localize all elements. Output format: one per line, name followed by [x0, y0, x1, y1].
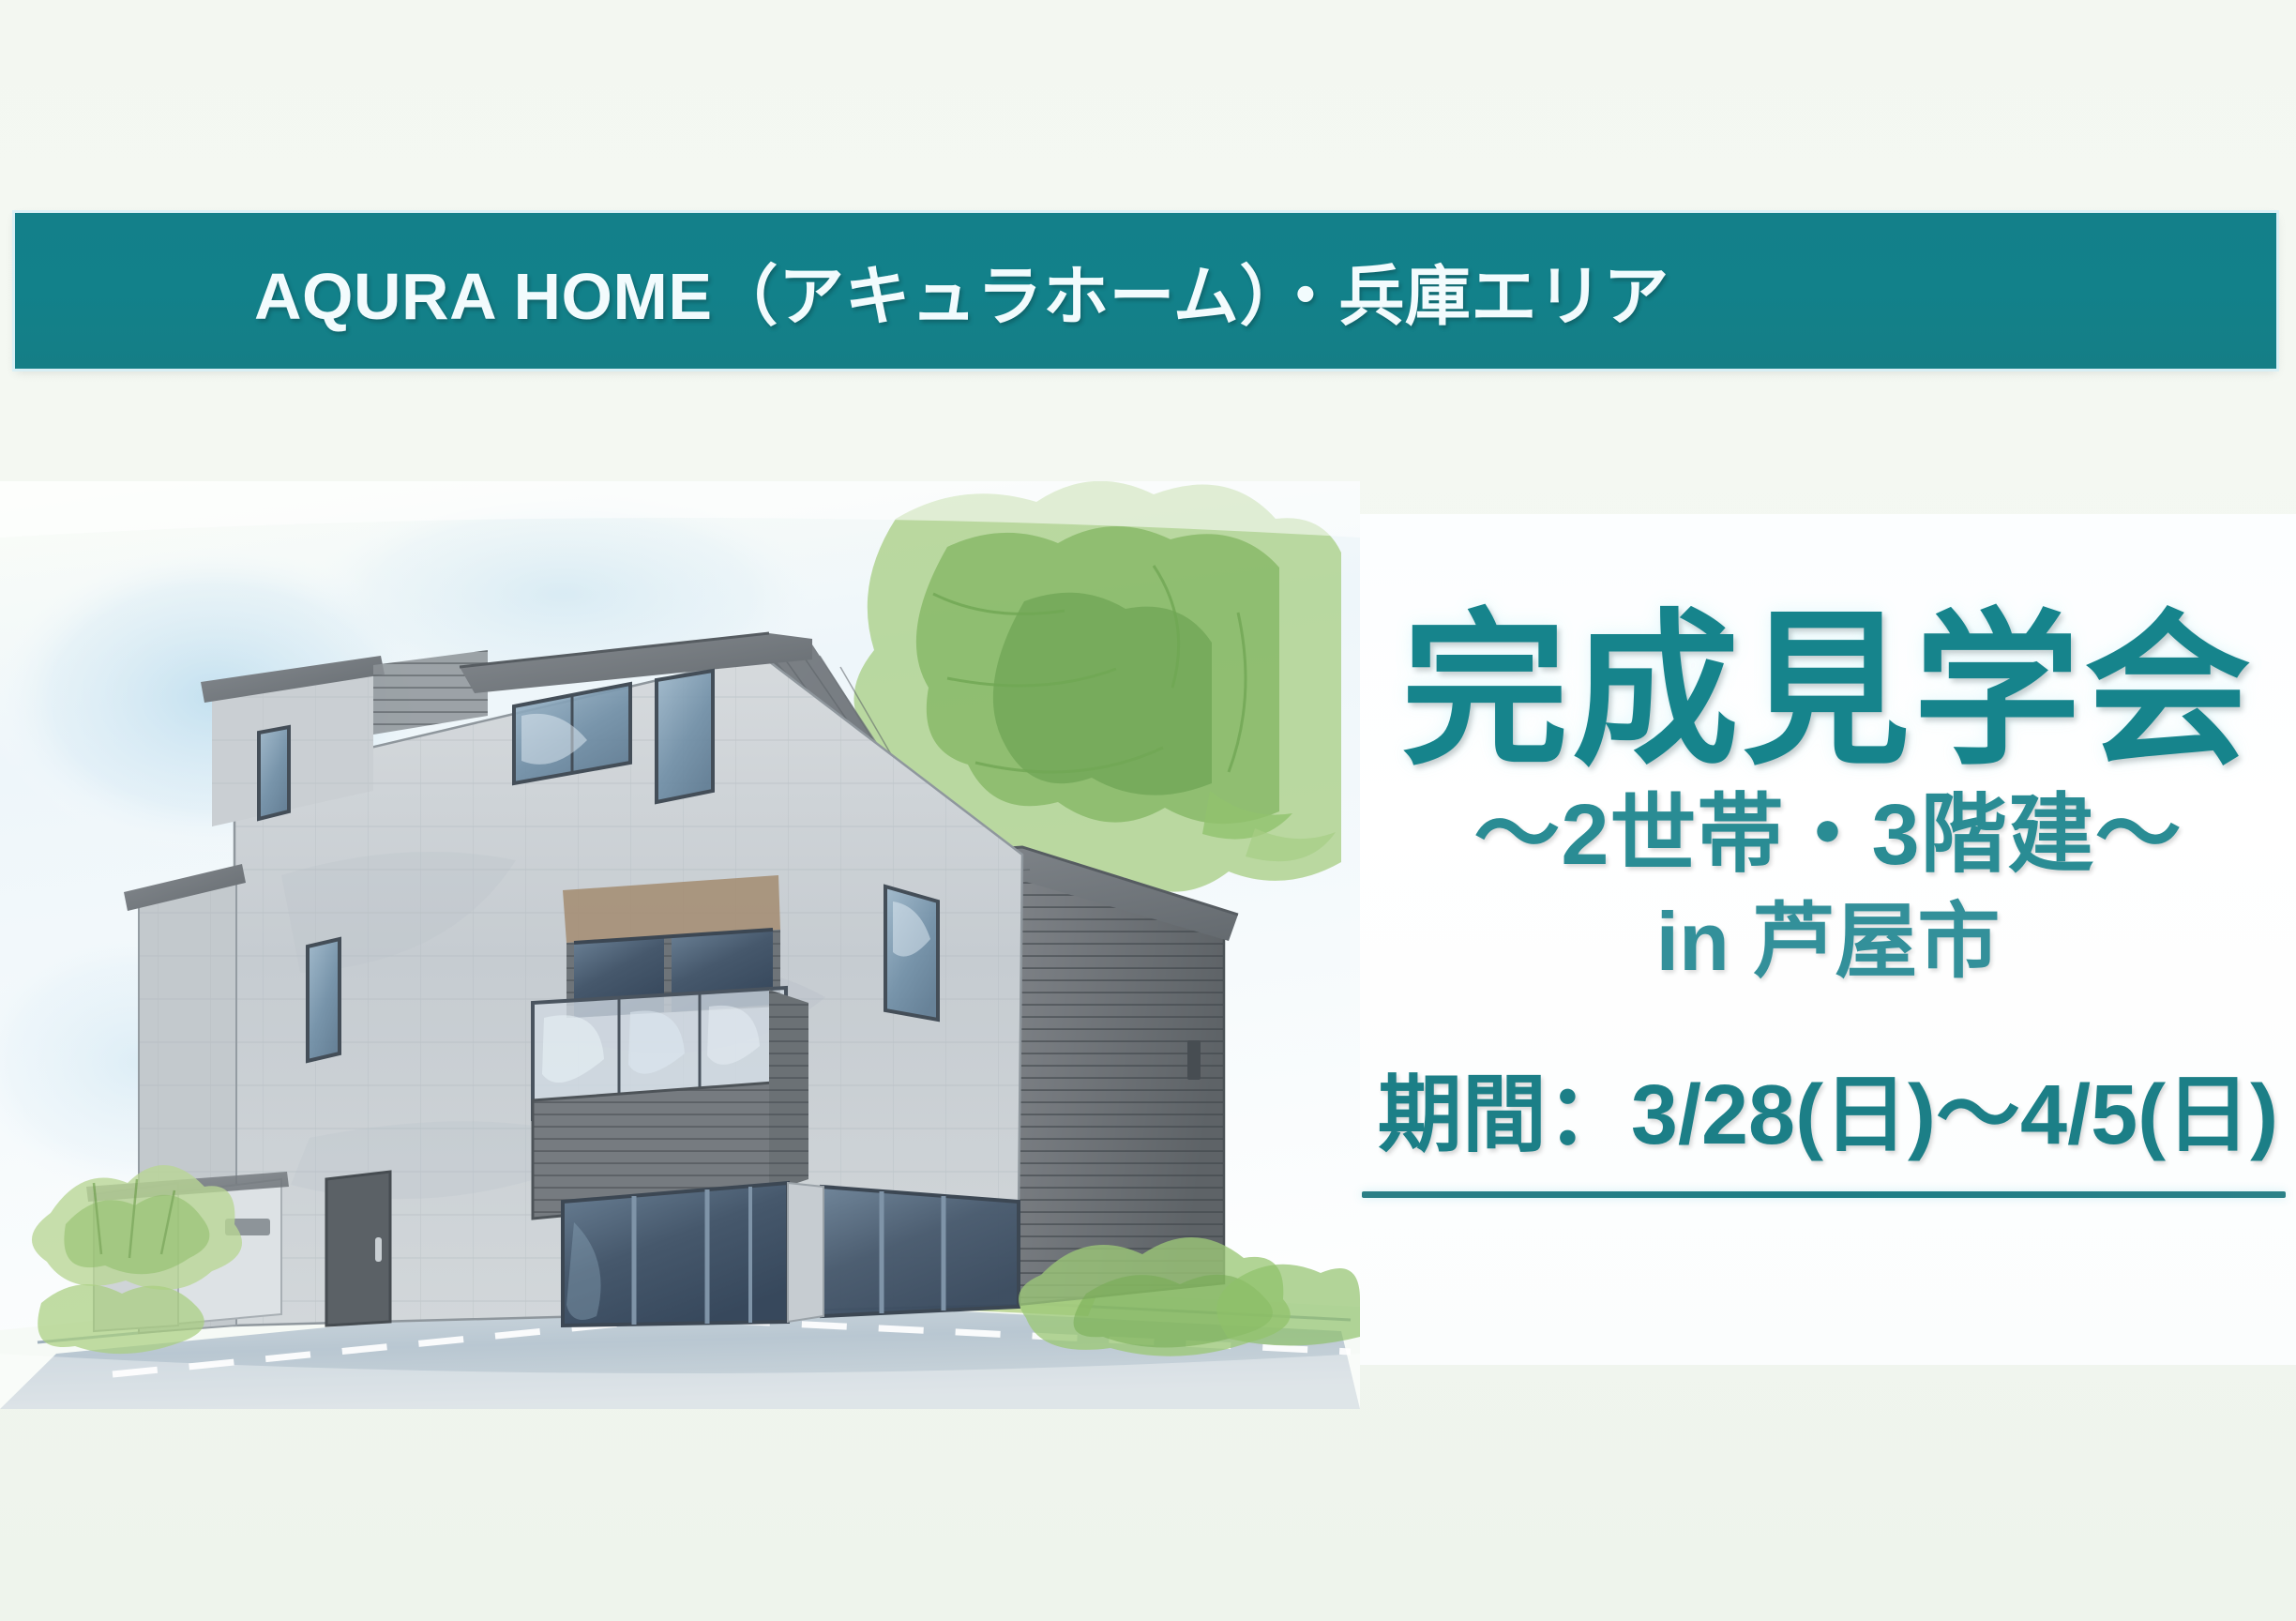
entry-pier [788, 1183, 823, 1322]
header-banner-title: AQURA HOME（アキュラホーム）・兵庫エリア [254, 244, 1669, 339]
period-underline [1362, 1191, 2286, 1198]
window-mid-left-slit [308, 939, 340, 1061]
event-subtitle: 〜2世帯・3階建〜 [1473, 792, 2182, 878]
balcony-bay [533, 875, 808, 1219]
event-period: 期間：3/28(日)〜4/5(日) [1378, 1073, 2278, 1158]
entry-door-left [326, 1172, 390, 1326]
header-banner: AQURA HOME（アキュラホーム）・兵庫エリア [15, 213, 2276, 369]
window-right-tall [885, 886, 938, 1020]
entry-glazing-right [822, 1187, 1019, 1316]
house-illustration-svg [0, 481, 1360, 1409]
poster-root: AQURA HOME（アキュラホーム）・兵庫エリア [0, 0, 2296, 1621]
siding-vent [1187, 1040, 1201, 1080]
ground-floor-glazing [563, 1183, 788, 1326]
door-handle [375, 1237, 382, 1262]
window-upper-left-slit [259, 727, 289, 819]
house-illustration [0, 481, 1360, 1409]
event-title: 完成見学会 [1401, 608, 2255, 775]
event-info-card: 完成見学会 〜2世帯・3階建〜 in 芦屋市 期間：3/28(日)〜4/5(日) [1360, 514, 2296, 1365]
window-upper-tall [657, 671, 713, 802]
event-location: in 芦屋市 [1656, 901, 2001, 983]
